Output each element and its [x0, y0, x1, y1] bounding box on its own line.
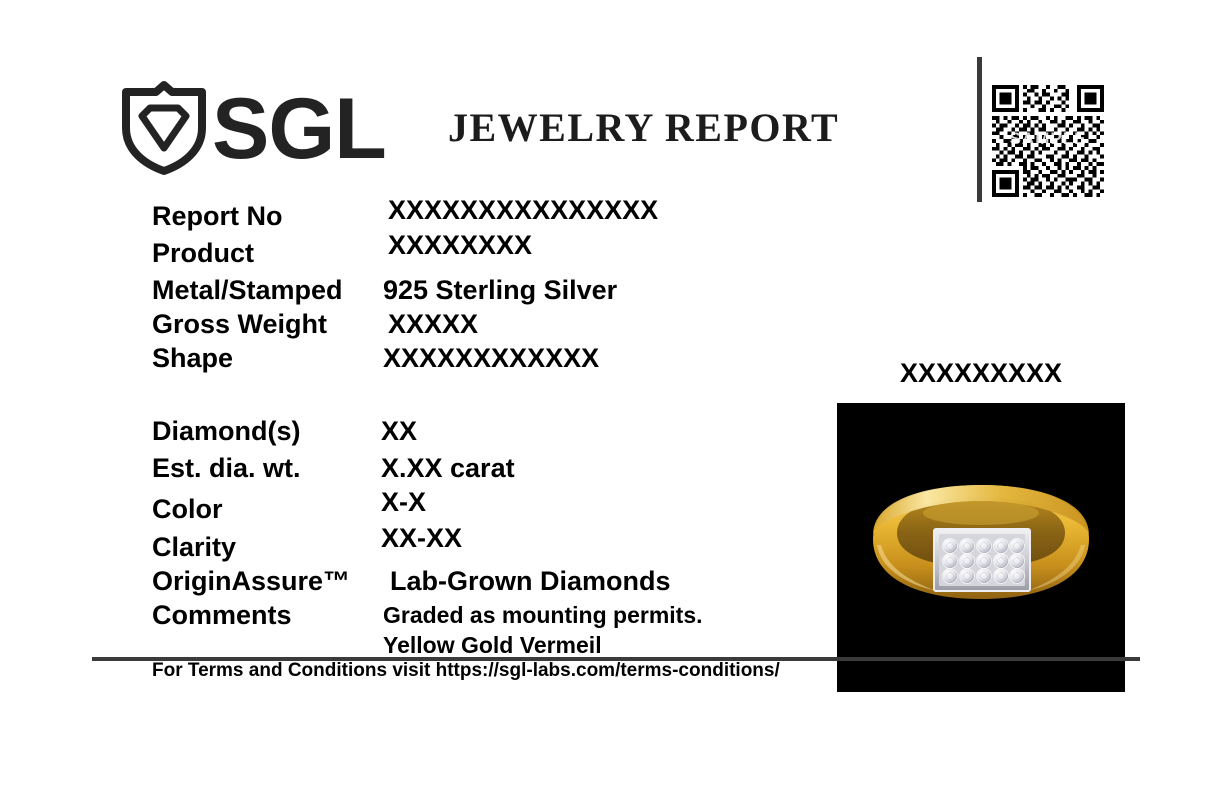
spec-value-report-no: XXXXXXXXXXXXXXX [388, 197, 658, 224]
spec-label-gross-weight: Gross Weight [152, 311, 327, 338]
spec-value-shape: XXXXXXXXXXXX [383, 345, 599, 372]
photo-caption: XXXXXXXXX [837, 358, 1125, 389]
spec-label-comments: Comments [152, 602, 292, 629]
spec-value-comments-line-1: Graded as mounting permits. [383, 604, 703, 627]
spec-value-comments-line-2: Yellow Gold Vermeil [383, 634, 602, 657]
terms-and-conditions-text: For Terms and Conditions visit https://s… [152, 660, 780, 682]
spec-value-clarity: XX-XX [381, 525, 462, 552]
spec-value-est-dia-wt: X.XX carat [381, 455, 515, 482]
jewelry-report-page: SGL JEWELRY REPORT [0, 0, 1224, 786]
spec-value-metal-stamped: 925 Sterling Silver [383, 277, 617, 304]
header-divider [977, 57, 982, 202]
qr-code[interactable]: SAMPLE [988, 85, 1108, 197]
spec-label-report-no: Report No [152, 203, 283, 230]
spec-value-originassure: Lab-Grown Diamonds [390, 568, 671, 595]
spec-value-diamonds: XX [381, 418, 417, 445]
sgl-logo: SGL [116, 78, 386, 176]
spec-value-product: XXXXXXXX [388, 232, 532, 259]
spec-label-clarity: Clarity [152, 534, 236, 561]
shield-diamond-icon [116, 78, 212, 176]
spec-label-diamonds: Diamond(s) [152, 418, 301, 445]
product-photo [837, 403, 1125, 692]
spec-value-color: X-X [381, 489, 426, 516]
page-title: JEWELRY REPORT [448, 104, 839, 151]
spec-label-originassure: OriginAssure™ [152, 568, 350, 595]
spec-label-product: Product [152, 240, 254, 267]
spec-label-metal-stamped: Metal/Stamped [152, 277, 343, 304]
spec-label-shape: Shape [152, 345, 233, 372]
spec-value-gross-weight: XXXXX [388, 311, 478, 338]
spec-label-est-dia-wt: Est. dia. wt. [152, 455, 301, 482]
logo-wordmark: SGL [212, 86, 386, 172]
spec-label-color: Color [152, 496, 223, 523]
